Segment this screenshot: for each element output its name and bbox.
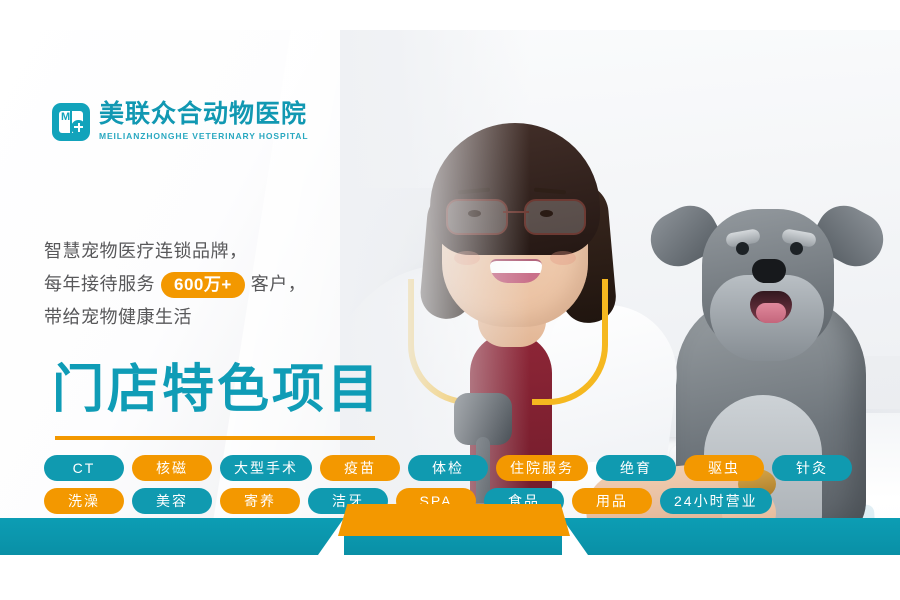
- service-tag-9[interactable]: 针灸: [772, 455, 852, 481]
- service-tag-8[interactable]: 驱虫: [684, 455, 764, 481]
- bottom-orange-tab: [338, 504, 570, 536]
- service-tag-7[interactable]: 用品: [572, 488, 652, 514]
- brand-logo[interactable]: M 美联众合动物医院 MEILIANZHONGHE VETERINARY HOS…: [52, 102, 308, 141]
- service-tag-7[interactable]: 绝育: [596, 455, 676, 481]
- tagline-line-2-suffix: 客户，: [251, 268, 307, 301]
- customer-count-badge: 600万+: [161, 272, 245, 298]
- medical-cross-icon: [71, 120, 86, 135]
- service-tag-3[interactable]: 寄养: [220, 488, 300, 514]
- dog-eye-left: [736, 242, 749, 255]
- tagline-line-2: 每年接待服务 600万+ 客户，: [44, 268, 384, 301]
- brand-name-en: MEILIANZHONGHE VETERINARY HOSPITAL: [99, 131, 308, 141]
- cheek-right: [550, 251, 576, 265]
- service-tag-2[interactable]: 核磁: [132, 455, 212, 481]
- service-tag-3[interactable]: 大型手术: [220, 455, 312, 481]
- tagline-block: 智慧宠物医疗连锁品牌， 每年接待服务 600万+ 客户， 带给宠物健康生活: [44, 235, 384, 334]
- tagline-line-1-text: 智慧宠物医疗连锁品牌，: [44, 235, 248, 268]
- service-tag-6[interactable]: 住院服务: [496, 455, 588, 481]
- eye-right: [540, 210, 553, 217]
- brand-name-cn: 美联众合动物医院: [99, 102, 308, 127]
- tagline-line-1: 智慧宠物医疗连锁品牌，: [44, 235, 384, 268]
- tagline-line-3-text: 带给宠物健康生活: [44, 301, 192, 334]
- service-tag-1[interactable]: 洗澡: [44, 488, 124, 514]
- page-title: 门店特色项目: [52, 364, 382, 416]
- glasses-lens-right: [524, 199, 586, 235]
- brand-text: 美联众合动物医院 MEILIANZHONGHE VETERINARY HOSPI…: [99, 102, 308, 141]
- service-tag-5[interactable]: 体检: [408, 455, 488, 481]
- headline-underline: [55, 436, 375, 440]
- service-tag-2[interactable]: 美容: [132, 488, 212, 514]
- dog-nose: [752, 259, 786, 283]
- logo-letter: M: [61, 112, 70, 123]
- service-tag-row-1: CT核磁大型手术疫苗体检住院服务绝育驱虫针灸: [44, 455, 864, 481]
- service-tag-4[interactable]: 疫苗: [320, 455, 400, 481]
- dog-eye-right: [790, 242, 803, 255]
- promo-banner: M 美联众合动物医院 MEILIANZHONGHE VETERINARY HOS…: [0, 30, 900, 555]
- service-tag-1[interactable]: CT: [44, 455, 124, 481]
- dog-tongue: [756, 303, 786, 323]
- service-tag-8[interactable]: 24小时营业: [660, 488, 772, 514]
- tagline-line-2-prefix: 每年接待服务: [44, 268, 155, 301]
- tagline-line-3: 带给宠物健康生活: [44, 301, 384, 334]
- book-medical-cross-icon: M: [52, 103, 90, 141]
